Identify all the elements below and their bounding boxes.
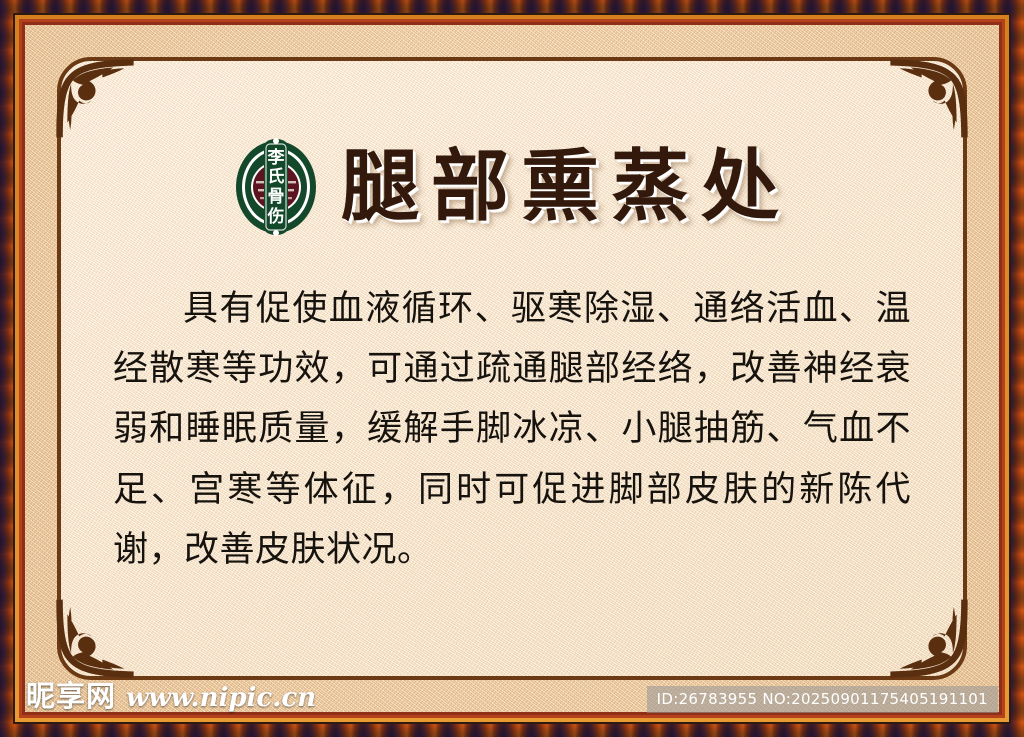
svg-text:氏: 氏 [267, 167, 284, 187]
svg-text:伤: 伤 [266, 206, 284, 227]
image-id-badge: ID:26783955 NO:20250901175405191101 [647, 686, 998, 713]
watermark-site-name: 昵享网 [26, 673, 116, 715]
poster-content: 李 氏 骨 伤 腿部熏蒸处 具有促使血液循环、驱寒除湿、通络活血、温经散寒等功效… [85, 85, 939, 652]
body-paragraph: 具有促使血液循环、驱寒除湿、通络活血、温经散寒等功效，可通过疏通腿部经络，改善神… [113, 279, 911, 580]
watermark: 昵享网 www.nipic.cn [26, 673, 316, 715]
clinic-logo-icon: 李 氏 骨 伤 [233, 137, 319, 237]
page-title: 腿部熏蒸处 [341, 148, 791, 226]
poster-canvas: 李 氏 骨 伤 腿部熏蒸处 具有促使血液循环、驱寒除湿、通络活血、温经散寒等功效… [0, 0, 1024, 737]
svg-text:李: 李 [267, 147, 284, 168]
watermark-url: www.nipic.cn [126, 683, 316, 713]
paper-background: 李 氏 骨 伤 腿部熏蒸处 具有促使血液循环、驱寒除湿、通络活血、温经散寒等功效… [25, 25, 999, 712]
title-row: 李 氏 骨 伤 腿部熏蒸处 [85, 137, 939, 237]
svg-text:骨: 骨 [267, 187, 284, 207]
